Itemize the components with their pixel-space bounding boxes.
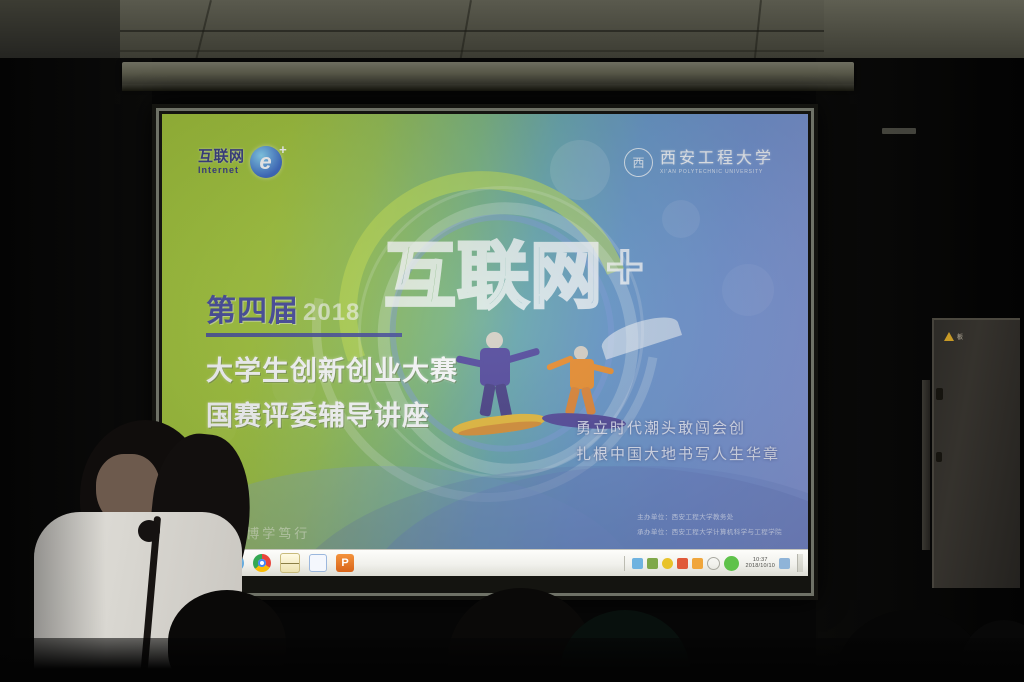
- network-tray-icon[interactable]: [647, 558, 658, 569]
- ceiling-left-shadow: [0, 0, 120, 62]
- tray-divider: [624, 556, 625, 571]
- language-bar-icon[interactable]: [779, 558, 790, 569]
- housing-label: [882, 128, 916, 134]
- housing-lip: [122, 84, 854, 91]
- notification-tray-icon[interactable]: [692, 558, 703, 569]
- projector-screen-housing: [122, 62, 854, 86]
- hair-tie: [138, 520, 160, 542]
- volume-tray-icon[interactable]: [662, 558, 673, 569]
- taskbar-clock[interactable]: 10:37 2018/10/10: [745, 557, 775, 570]
- foreground-darkness: [0, 638, 1024, 682]
- monitor-tray-icon[interactable]: [632, 558, 643, 569]
- presentation-slide: 互联网 Internet e + 西 西安工程大学 XI'AN POLYTECH…: [162, 114, 808, 576]
- projector-haze: [162, 114, 808, 576]
- green-app-tray-icon[interactable]: [724, 556, 739, 571]
- brand-triangle-icon: [944, 332, 954, 341]
- clock-date: 2018/10/10: [745, 563, 775, 569]
- brand-label: 板: [957, 332, 964, 341]
- ceiling-right-panel: [824, 0, 1024, 58]
- whiteboard-knob: [936, 388, 943, 400]
- lecture-hall-photo: 互联网 Internet e + 西 西安工程大学 XI'AN POLYTECH…: [0, 0, 1024, 682]
- powerpoint-icon[interactable]: P: [336, 554, 354, 572]
- shield-tray-icon[interactable]: [677, 558, 688, 569]
- show-desktop-button[interactable]: [797, 554, 803, 572]
- whiteboard-brand-logo: 板: [944, 332, 964, 341]
- whiteboard-panel: [932, 318, 1020, 588]
- system-tray: 10:37 2018/10/10: [621, 554, 808, 572]
- whiteboard-support-arm: [922, 380, 930, 550]
- google-chrome-icon[interactable]: [253, 554, 271, 572]
- spreadsheet-editor-icon[interactable]: [309, 554, 327, 572]
- document-editor-icon[interactable]: [280, 553, 300, 573]
- windows-taskbar[interactable]: e P 10:37 2018/10/10: [162, 549, 808, 576]
- cloud-tray-icon[interactable]: [707, 557, 720, 570]
- whiteboard-knob: [936, 452, 942, 462]
